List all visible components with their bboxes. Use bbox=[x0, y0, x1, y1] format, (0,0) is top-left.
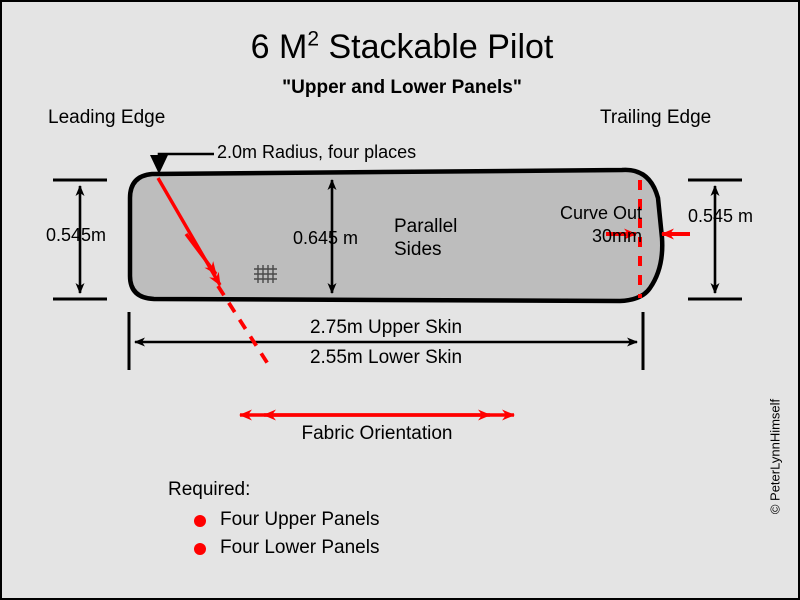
dimension-right-height-label: 0.545 m bbox=[688, 207, 753, 225]
title-prefix: 6 M bbox=[251, 28, 308, 66]
copyright-notice: © PeterLynnHimself bbox=[769, 382, 782, 532]
required-item-upper-panels: Four Upper Panels bbox=[220, 510, 379, 529]
drawing-canvas: 6 M2 Stackable Pilot "Upper and Lower Pa… bbox=[0, 0, 800, 600]
page-subtitle: "Upper and Lower Panels" bbox=[2, 78, 800, 97]
leading-edge-label: Leading Edge bbox=[48, 108, 165, 127]
title-suffix: Stackable Pilot bbox=[319, 28, 553, 66]
parallel-sides-label: Parallel Sides bbox=[394, 215, 504, 261]
upper-skin-dimension-label: 2.75m Upper Skin bbox=[129, 318, 643, 337]
dim-right-group bbox=[688, 180, 742, 299]
page-title: 6 M2 Stackable Pilot bbox=[2, 30, 800, 64]
required-heading: Required: bbox=[168, 480, 250, 499]
title-exponent: 2 bbox=[307, 28, 319, 51]
lower-skin-dimension-label: 2.55m Lower Skin bbox=[129, 348, 643, 367]
dimension-left-height-label: 0.545m bbox=[46, 226, 106, 244]
trailing-edge-label: Trailing Edge bbox=[600, 108, 711, 127]
fabric-orientation-label: Fabric Orientation bbox=[232, 424, 522, 443]
radius-leader-line bbox=[150, 154, 214, 174]
bullet-icon-lower-panels bbox=[194, 543, 206, 555]
dimension-mid-height-label: 0.645 m bbox=[293, 229, 358, 247]
required-item-lower-panels: Four Lower Panels bbox=[220, 538, 379, 557]
bullet-icon-upper-panels bbox=[194, 515, 206, 527]
curve-out-label: Curve Out 30mm bbox=[518, 202, 642, 247]
radius-note-label: 2.0m Radius, four places bbox=[217, 143, 416, 161]
